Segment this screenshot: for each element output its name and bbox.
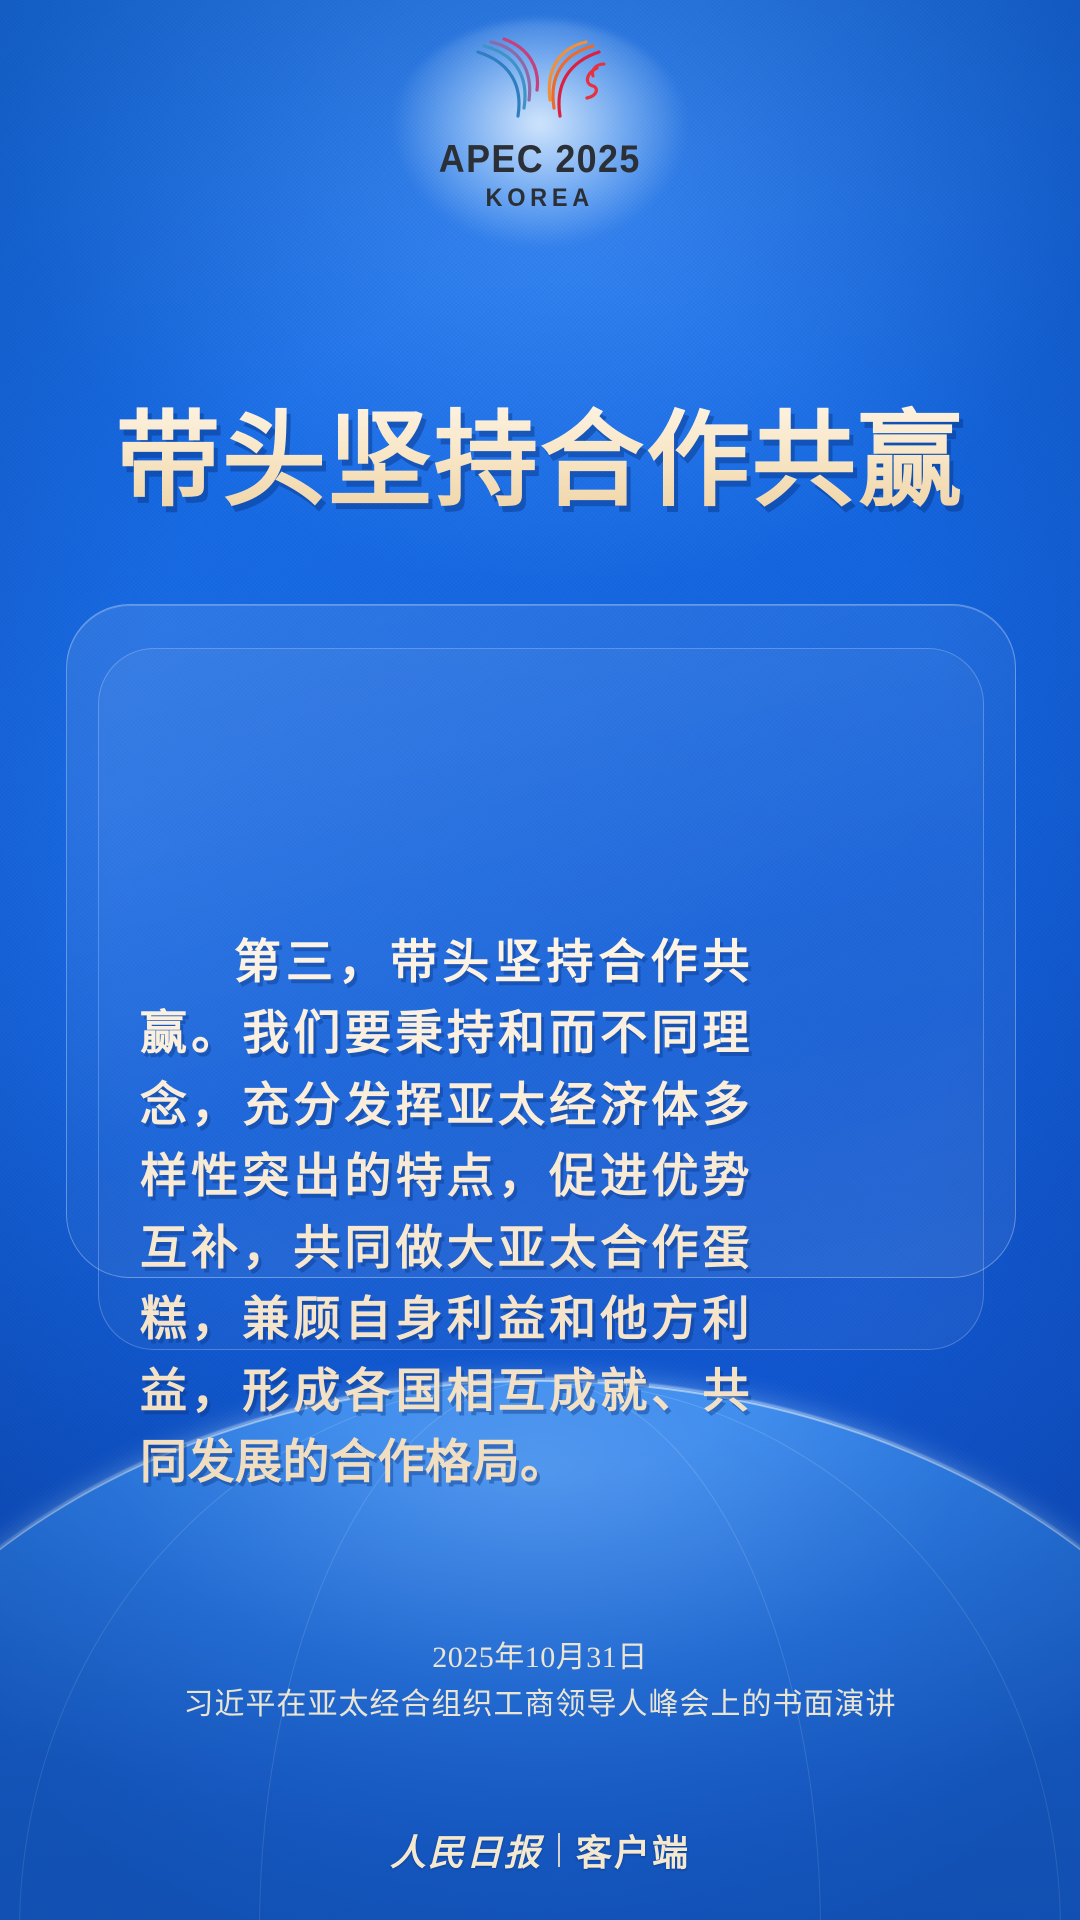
speech-source: 习近平在亚太经合组织工商领导人峰会上的书面演讲: [0, 1683, 1080, 1727]
apec-logo-text: APEC 2025 KOREA: [430, 140, 649, 211]
attribution-block: 2025年10月31日 习近平在亚太经合组织工商领导人峰会上的书面演讲: [0, 1638, 1080, 1726]
apec-logo: APEC 2025 KOREA: [0, 28, 1080, 211]
brand-bar: 人民日报 客户端: [0, 1824, 1080, 1876]
speech-date: 2025年10月31日: [0, 1638, 1080, 1679]
product-name: 客户端: [576, 1824, 690, 1876]
page-title: 带头坚持合作共赢: [0, 402, 1080, 518]
apec-year-label: APEC 2025: [439, 140, 641, 179]
brand-divider-icon: [558, 1833, 560, 1867]
poster-root: APEC 2025 KOREA 带头坚持合作共赢 第三，带头坚持合作共赢。我们要…: [0, 0, 1080, 1920]
apec-host-label: KOREA: [437, 186, 643, 211]
publisher-logo: 人民日报: [390, 1824, 542, 1876]
quote-body-text: 第三，带头坚持合作共赢。我们要秉持和而不同理念，充分发挥亚太经济体多样性突出的特…: [140, 927, 750, 1499]
apec-emblem-icon: [447, 28, 633, 136]
